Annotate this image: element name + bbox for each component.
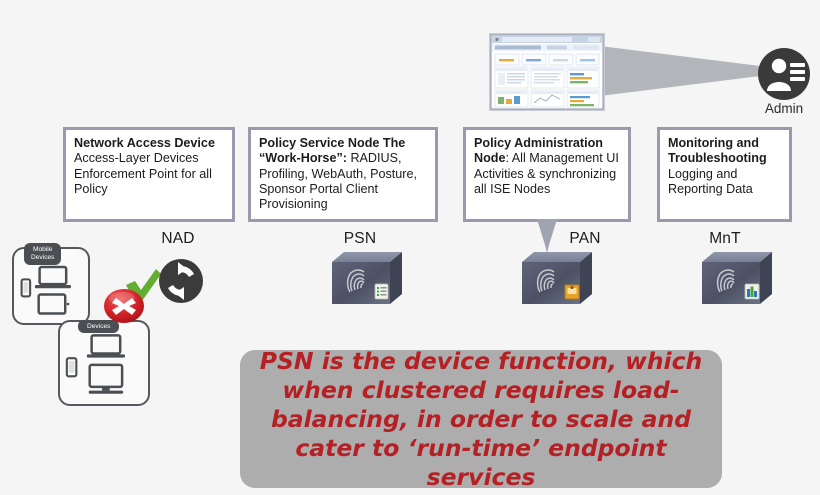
server-fingerprint-icon-mnt [690,248,776,312]
infobox-psn: Policy Service Node The “Work-Horse”: RA… [248,127,438,222]
infobox-pan: Policy Administration Node: All Manageme… [463,127,631,222]
admin-person-list-icon [757,47,811,101]
server-fingerprint-icon-pan [510,248,596,312]
sync-refresh-icon [158,258,204,304]
diagram-canvas: Admin Network Access Device Access-Layer… [0,0,820,495]
psn-callout-text: PSN is the device function, which when c… [254,347,708,492]
node-label-psn: PSN [315,230,405,248]
devices-glyphs [60,322,148,404]
infobox-nad: Network Access Device Access-Layer Devic… [63,127,235,222]
device-group-mobile-label: Mobile Devices [24,243,61,265]
node-label-pan: PAN [540,230,630,248]
infobox-nad-body: Access-Layer Devices Enforcement Point f… [74,151,212,196]
infobox-nad-title: Network Access Device [74,136,215,150]
ise-dashboard-screenshot [489,33,605,111]
admin-label: Admin [744,101,820,116]
psn-callout-box: PSN is the device function, which when c… [240,350,722,488]
infobox-mnt-title: Monitoring and Troubleshooting [668,136,767,165]
infobox-mnt-body: Logging and Reporting Data [668,167,753,196]
red-x-circle-icon [103,288,145,324]
node-label-nad: NAD [133,230,223,248]
server-fingerprint-icon-psn [320,248,406,312]
infobox-mnt: Monitoring and Troubleshooting Logging a… [657,127,792,222]
node-label-mnt: MnT [680,230,770,248]
projection-beam [600,40,760,102]
